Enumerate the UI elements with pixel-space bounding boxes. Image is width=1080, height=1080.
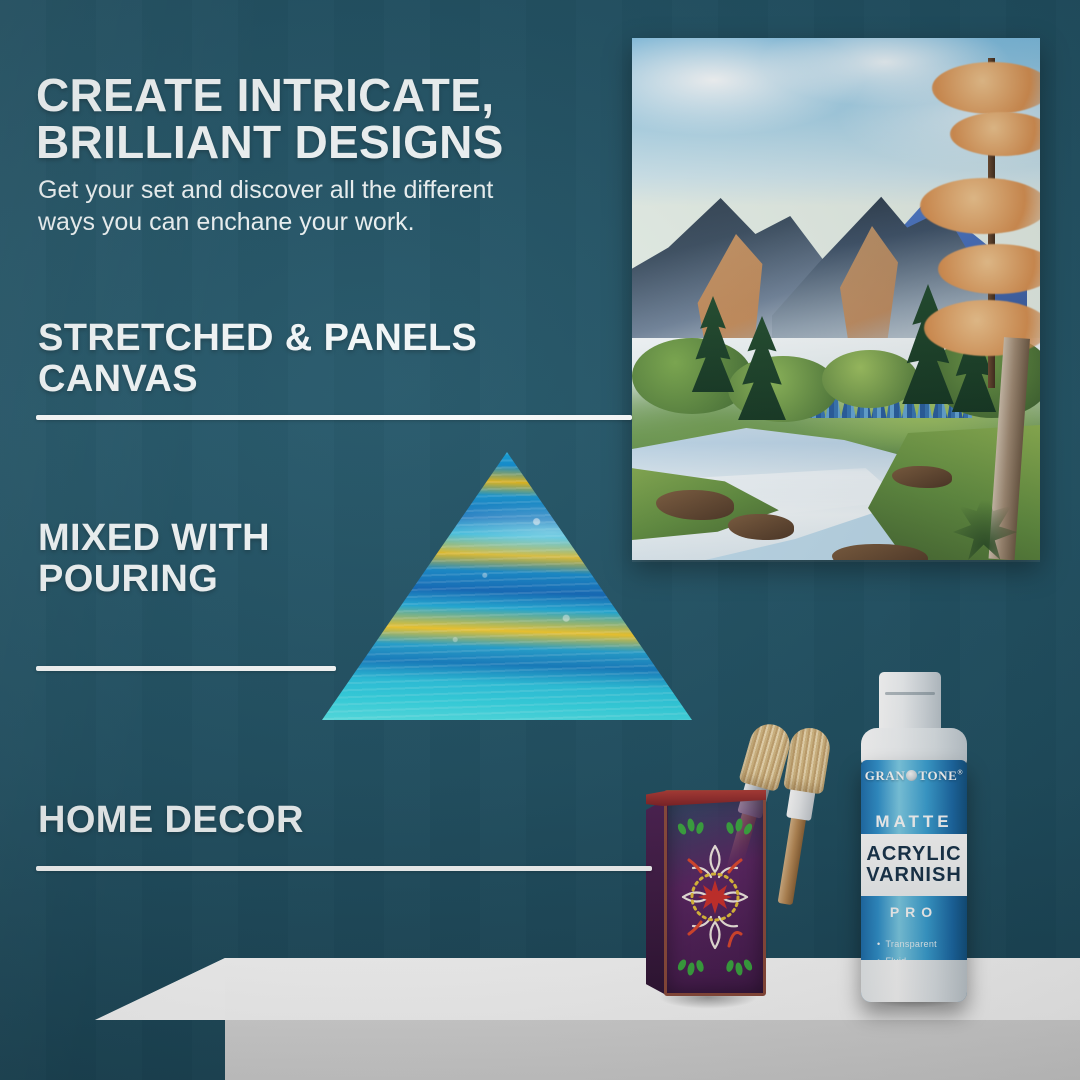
divider-canvas (36, 415, 632, 420)
holder-front-panel (664, 790, 766, 996)
feature-item: Transparent (877, 936, 937, 953)
mountain-landscape-painting (632, 38, 1040, 560)
finish-label: MATTE (861, 812, 967, 832)
feature-heading-home-decor: HOME DECOR (38, 800, 598, 841)
product-name-line-2: VARNISH (866, 865, 962, 886)
divider-pouring (36, 666, 336, 671)
brand-emblem-icon (906, 770, 917, 781)
acrylic-pour-triangle (322, 452, 692, 720)
podium-bevel (95, 958, 227, 1020)
registered-mark: ® (957, 769, 963, 777)
product-infographic: GRANTONE® MATTE ACRYLIC VARNISH PRO Tran… (0, 0, 1080, 1080)
bottle-cap (879, 672, 941, 732)
main-headline: CREATE INTRICATE, BRILLIANT DESIGNS (36, 72, 576, 167)
floral-mandala-motif (667, 812, 763, 982)
brand-name-end: TONE (918, 768, 957, 783)
brush-bristles (783, 725, 833, 794)
feature-heading-pouring: MIXED WITH POURING (38, 518, 368, 600)
brush-handle (778, 808, 808, 905)
brand-logo: GRANTONE® (861, 768, 967, 784)
cap-seam (885, 692, 935, 695)
brand-name-start: GRAN (865, 768, 906, 783)
painting-autumn-foliage (920, 178, 1040, 234)
podium-front-face (225, 1020, 1080, 1080)
product-name-band: ACRYLIC VARNISH (861, 834, 967, 896)
divider-home-decor (36, 866, 652, 871)
bottle-label: GRANTONE® MATTE ACRYLIC VARNISH PRO Tran… (861, 760, 967, 1002)
painting-foliage (822, 350, 918, 408)
feature-heading-canvas: STRETCHED & PANELS CANVAS (38, 318, 598, 400)
varnish-bottle: GRANTONE® MATTE ACRYLIC VARNISH PRO Tran… (855, 672, 973, 1002)
painting-autumn-foliage (932, 62, 1040, 114)
subheadline-text: Get your set and discover all the differ… (38, 174, 508, 238)
painted-brush-holder-box (646, 790, 766, 1002)
product-tier: PRO (861, 904, 967, 920)
pour-art-speckles (322, 452, 692, 720)
product-name-line-1: ACRYLIC (866, 844, 961, 865)
bottle-base (861, 960, 967, 1002)
